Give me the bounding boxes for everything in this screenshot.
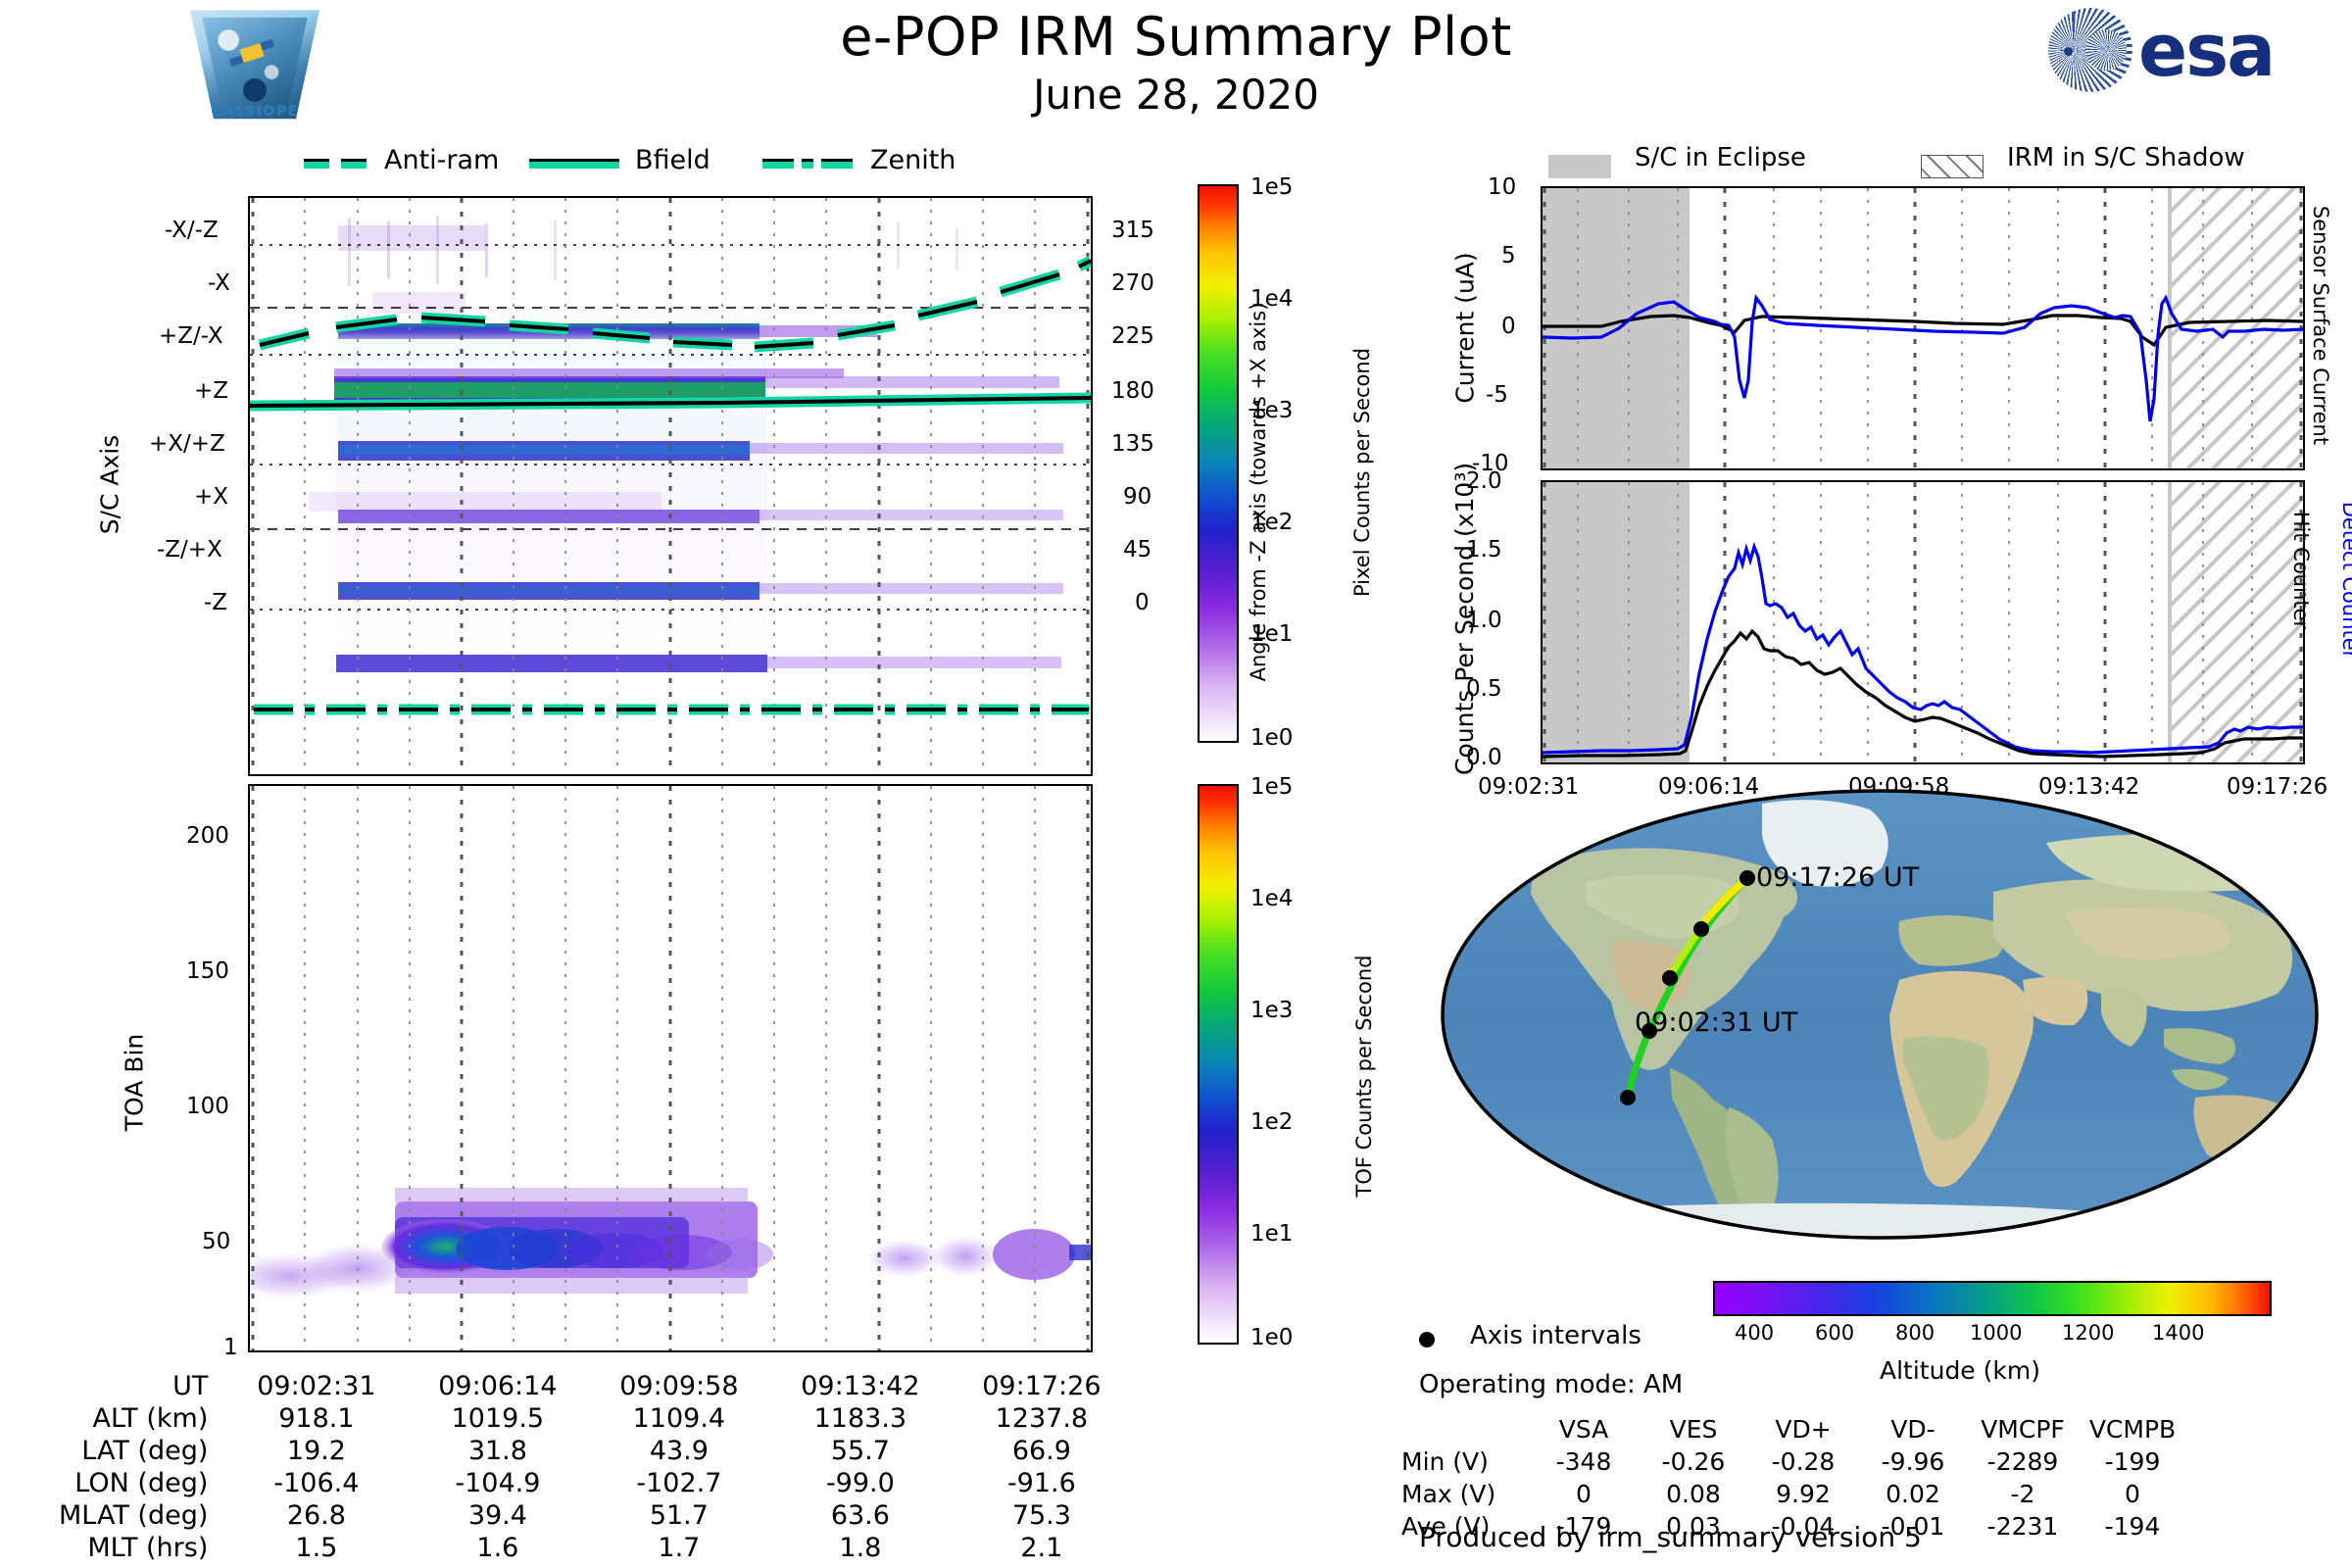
shadow-swatch — [1921, 155, 1984, 178]
row-header-ut: UT — [59, 1370, 225, 1402]
esa-inner-e-icon — [2085, 29, 2127, 71]
sc-angle-tick-0: 315 — [1111, 218, 1154, 243]
voltage-row-max: Max (V) — [1401, 1478, 1529, 1510]
sc-angle-tick-2: 225 — [1111, 323, 1154, 349]
alt-tick-1: 600 — [1815, 1321, 1854, 1345]
cell-ave-vmcpf: -2231 — [1968, 1510, 2078, 1543]
cell-lon-3: -99.0 — [769, 1467, 951, 1499]
cell-min-vdm: -9.96 — [1858, 1445, 1968, 1478]
altitude-colorbar — [1713, 1281, 2272, 1316]
toa-ytick-1: 150 — [186, 958, 229, 984]
world-map — [1439, 784, 2321, 1245]
pcb-tick-4: 1e1 — [1250, 621, 1293, 647]
eclipse-label: S/C in Eclipse — [1635, 143, 1806, 172]
cell-mlt-3: 1.8 — [769, 1532, 951, 1564]
legend-swatch-zenith-1 — [762, 159, 794, 169]
legend-swatch-bfield — [529, 159, 619, 169]
legend-swatch-anti-ram — [304, 159, 329, 169]
cell-ut-0: 09:02:31 — [225, 1370, 407, 1402]
voltage-row-min: Min (V) — [1401, 1445, 1529, 1478]
tof-counts-colorbar — [1198, 784, 1239, 1345]
cell-max-ves: 0.08 — [1639, 1478, 1748, 1510]
cur-ytick-2: 0 — [1501, 314, 1516, 339]
voltage-col-vcmpb: VCMPB — [2078, 1413, 2187, 1445]
track-point-2 — [1662, 970, 1678, 986]
cur-ytick-1: 5 — [1501, 243, 1516, 269]
legend-sc-axis: Anti-ram Bfield Zenith — [294, 145, 1039, 184]
counts-timeseries — [1543, 482, 2303, 762]
toa-ytick-2: 100 — [186, 1094, 229, 1119]
voltage-col-vmcpf: VMCPF — [1968, 1413, 2078, 1445]
cell-max-vcmpb: 0 — [2078, 1478, 2187, 1510]
pcb-tick-1: 1e4 — [1250, 286, 1293, 312]
table-row: MLT (hrs) 1.5 1.6 1.7 1.8 2.1 — [59, 1532, 1132, 1564]
row-header-mlat: MLAT (deg) — [59, 1499, 225, 1532]
pixel-counts-colorbar-label: Pixel Counts per Second — [1350, 267, 1374, 678]
cell-min-vmcpf: -2289 — [1968, 1445, 2078, 1478]
axis-intervals-label: Axis intervals — [1470, 1321, 1641, 1350]
cell-ave-vcmpb: -194 — [2078, 1510, 2187, 1543]
tcb-tick-5: 1e0 — [1250, 1325, 1293, 1350]
sc-axis-ytick-2: +Z/-X — [159, 323, 223, 349]
counts-right-label-black: Hit Counter — [2289, 453, 2313, 688]
row-header-mlt: MLT (hrs) — [59, 1532, 225, 1564]
cell-max-vsa: 0 — [1529, 1478, 1639, 1510]
operating-mode-label: Operating mode: AM — [1419, 1370, 1683, 1399]
eclipse-swatch — [1548, 155, 1611, 178]
sc-axis-ytick-3: +Z — [194, 378, 228, 404]
cell-lon-0: -106.4 — [225, 1467, 407, 1499]
sc-angle-tick-1: 270 — [1111, 270, 1154, 296]
tcb-tick-1: 1e4 — [1250, 886, 1293, 911]
pcb-tick-0: 1e5 — [1250, 174, 1293, 200]
voltage-col-vdm: VD- — [1858, 1413, 1968, 1445]
cassiope-badge-icon — [243, 78, 267, 102]
sc-angle-tick-6: 45 — [1123, 537, 1151, 563]
cell-mlat-4: 75.3 — [951, 1499, 1132, 1532]
page-title: e-POP IRM Summary Plot — [0, 6, 2352, 68]
cell-mlt-4: 2.1 — [951, 1532, 1132, 1564]
sc-axis-ytick-7: -Z — [204, 590, 227, 615]
esa-dot-icon — [2064, 47, 2073, 56]
alt-tick-5: 1400 — [2152, 1321, 2204, 1345]
sc-angle-tick-5: 90 — [1123, 484, 1151, 510]
sc-angle-tick-4: 135 — [1111, 431, 1154, 457]
track-point-end — [1739, 870, 1755, 886]
track-point-3 — [1693, 921, 1709, 937]
map-label-end-time: 09:17:26 UT — [1756, 862, 1919, 893]
cell-mlat-2: 51.7 — [588, 1499, 769, 1532]
cell-lon-1: -104.9 — [407, 1467, 588, 1499]
table-row: VSA VES VD+ VD- VMCPF VCMPB — [1401, 1413, 2187, 1445]
toa-ylabel: TOA Bin — [121, 1009, 149, 1156]
altitude-colorbar-label: Altitude (km) — [1880, 1356, 2040, 1385]
cell-ut-1: 09:06:14 — [407, 1370, 588, 1402]
table-row: Max (V) 0 0.08 9.92 0.02 -2 0 — [1401, 1478, 2187, 1510]
sc-axis-ytick-1: -X — [208, 270, 230, 296]
current-timeseries — [1543, 188, 2303, 468]
sc-angle-tick-7: 0 — [1135, 590, 1150, 615]
cell-lat-4: 66.9 — [951, 1435, 1132, 1467]
toa-ytick-3: 50 — [202, 1229, 230, 1254]
cell-alt-0: 918.1 — [225, 1402, 407, 1435]
legend-swatch-zenith-2 — [821, 159, 853, 169]
cell-mlt-2: 1.7 — [588, 1532, 769, 1564]
legend-label-anti-ram: Anti-ram — [384, 145, 499, 175]
page-subtitle: June 28, 2020 — [0, 71, 2352, 119]
axis-interval-dot-icon — [1419, 1332, 1435, 1347]
cell-max-vdp: 9.92 — [1748, 1478, 1858, 1510]
sc-angle-tick-3: 180 — [1111, 378, 1154, 404]
toa-ytick-4: 1 — [223, 1335, 238, 1360]
cell-alt-1: 1019.5 — [407, 1402, 588, 1435]
sc-axis-ytick-6: -Z/+X — [157, 537, 222, 563]
alt-tick-0: 400 — [1735, 1321, 1774, 1345]
tcb-tick-0: 1e5 — [1250, 774, 1293, 800]
table-row: MLAT (deg) 26.8 39.4 51.7 63.6 75.3 — [59, 1499, 1132, 1532]
panel-sc-axis — [248, 196, 1093, 776]
cell-min-vsa: -348 — [1529, 1445, 1639, 1478]
voltage-col-vsa: VSA — [1529, 1413, 1639, 1445]
cell-alt-4: 1237.8 — [951, 1402, 1132, 1435]
tcb-tick-4: 1e1 — [1250, 1221, 1293, 1247]
table-row: Min (V) -348 -0.26 -0.28 -9.96 -2289 -19… — [1401, 1445, 2187, 1478]
cell-lon-4: -91.6 — [951, 1467, 1132, 1499]
cell-min-vdp: -0.28 — [1748, 1445, 1858, 1478]
cell-ut-2: 09:09:58 — [588, 1370, 769, 1402]
row-header-lat: LAT (deg) — [59, 1435, 225, 1467]
cell-mlat-3: 63.6 — [769, 1499, 951, 1532]
orbit-ground-track-map — [1439, 784, 2321, 1245]
counts-ylabel: Counts Per Second (x10³) — [1449, 471, 1481, 775]
row-header-alt: ALT (km) — [59, 1402, 225, 1435]
current-ylabel: Current (uA) — [1451, 216, 1480, 441]
legend-label-zenith: Zenith — [870, 145, 955, 175]
alt-tick-2: 800 — [1895, 1321, 1935, 1345]
sc-axis-ytick-0: -X/-Z — [165, 218, 219, 243]
pcb-tick-3: 1e2 — [1250, 510, 1293, 535]
cell-ut-3: 09:13:42 — [769, 1370, 951, 1402]
cassiope-logo: CASSIOPE — [181, 8, 328, 125]
tof-counts-colorbar-label: TOF Counts per Second — [1352, 870, 1376, 1282]
cell-mlt-1: 1.6 — [407, 1532, 588, 1564]
voltage-col-ves: VES — [1639, 1413, 1748, 1445]
ephemeris-table: UT 09:02:31 09:06:14 09:09:58 09:13:42 0… — [59, 1370, 1132, 1564]
track-point-start — [1620, 1090, 1636, 1105]
esa-logo: esa — [2048, 8, 2332, 92]
cell-max-vmcpf: -2 — [1968, 1478, 2078, 1510]
esa-logo-text: esa — [2138, 10, 2274, 92]
legend-swatch-anti-ram-2 — [341, 159, 367, 169]
pcb-tick-2: 1e3 — [1250, 398, 1293, 423]
counts-right-label-blue: Detect Counter — [2338, 443, 2352, 717]
panel-counts — [1541, 480, 2305, 764]
cell-lon-2: -102.7 — [588, 1467, 769, 1499]
cell-lat-1: 31.8 — [407, 1435, 588, 1467]
cell-ut-4: 09:17:26 — [951, 1370, 1132, 1402]
cell-max-vdm: 0.02 — [1858, 1478, 1968, 1510]
cell-mlt-0: 1.5 — [225, 1532, 407, 1564]
alt-tick-4: 1200 — [2062, 1321, 2114, 1345]
pixel-counts-colorbar — [1198, 184, 1239, 743]
row-header-lon: LON (deg) — [59, 1467, 225, 1499]
cur-ytick-3: -5 — [1486, 382, 1508, 408]
cell-lat-2: 43.9 — [588, 1435, 769, 1467]
cell-lat-0: 19.2 — [225, 1435, 407, 1467]
alt-tick-3: 1000 — [1970, 1321, 2022, 1345]
panel-current — [1541, 186, 2305, 470]
produced-by-label: Produced by irm_summary version 5 — [1419, 1521, 1922, 1553]
tcb-tick-3: 1e2 — [1250, 1109, 1293, 1135]
sc-axis-spectrogram — [250, 198, 1091, 774]
cell-mlat-0: 26.8 — [225, 1499, 407, 1532]
legend-swatch-zenith-dot — [802, 159, 813, 169]
sc-axis-ytick-5: +X — [194, 484, 228, 510]
pcb-tick-5: 1e0 — [1250, 725, 1293, 751]
cassiope-logo-text: CASSIOPE — [181, 104, 328, 120]
cur-ytick-0: 10 — [1488, 174, 1516, 200]
table-row: LON (deg) -106.4 -104.9 -102.7 -99.0 -91… — [59, 1467, 1132, 1499]
legend-eclipse-shadow: S/C in Eclipse IRM in S/C Shadow — [1548, 145, 2332, 184]
map-label-start-time: 09:02:31 UT — [1635, 1007, 1797, 1038]
voltage-col-vdp: VD+ — [1748, 1413, 1858, 1445]
panel-toa-bin — [248, 784, 1093, 1352]
shadow-label: IRM in S/C Shadow — [2007, 143, 2245, 172]
cell-min-vcmpb: -199 — [2078, 1445, 2187, 1478]
cell-alt-3: 1183.3 — [769, 1402, 951, 1435]
legend-label-bfield: Bfield — [635, 145, 710, 175]
cell-lat-3: 55.7 — [769, 1435, 951, 1467]
cell-mlat-1: 39.4 — [407, 1499, 588, 1532]
toa-ytick-0: 200 — [186, 823, 229, 849]
table-row: ALT (km) 918.1 1019.5 1109.4 1183.3 1237… — [59, 1402, 1132, 1435]
cell-alt-2: 1109.4 — [588, 1402, 769, 1435]
table-row: LAT (deg) 19.2 31.8 43.9 55.7 66.9 — [59, 1435, 1132, 1467]
sc-axis-ytick-4: +X/+Z — [149, 431, 225, 457]
voltage-corner-cell — [1401, 1413, 1529, 1445]
table-row: UT 09:02:31 09:06:14 09:09:58 09:13:42 0… — [59, 1370, 1132, 1402]
toa-bin-spectrogram — [250, 786, 1091, 1350]
tcb-tick-2: 1e3 — [1250, 998, 1293, 1023]
cell-min-ves: -0.26 — [1639, 1445, 1748, 1478]
sc-axis-ylabel: S/C Axis — [96, 407, 124, 563]
